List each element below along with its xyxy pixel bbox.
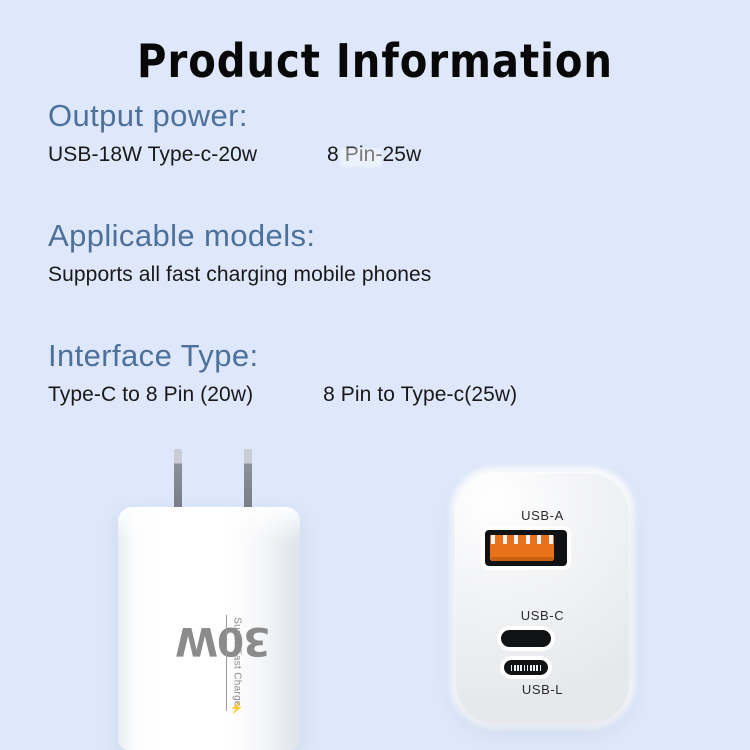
product-information-page: Product Information Output power: USB-18… — [0, 0, 750, 750]
usb-l-pin — [520, 665, 522, 671]
spec-heading-interface-type: Interface Type: — [48, 338, 517, 374]
branding-divider — [226, 615, 227, 711]
spec-block-applicable-models: Applicable models: Supports all fast cha… — [48, 218, 431, 287]
usb-a-slot — [549, 535, 553, 544]
usb-l-pin — [536, 665, 538, 671]
spec-heading-applicable-models: Applicable models: — [48, 218, 431, 254]
usb-l-pin — [514, 665, 516, 671]
charger-left-branding: 30W Super Fast Charge ⚡ — [178, 611, 242, 715]
spec-body-applicable-models: Supports all fast charging mobile phones — [48, 263, 431, 287]
lightning-port-icon — [504, 660, 548, 675]
watermark-patch — [340, 148, 382, 167]
plug-prong-right — [244, 449, 252, 507]
port-label-usb-l: USB-L — [455, 682, 630, 697]
interface-value-8pin-to-typec: 8 Pin to Type-c(25w) — [323, 383, 517, 406]
plug-prong-left — [174, 449, 182, 507]
usb-l-pin — [533, 665, 535, 671]
spec-body-interface-type: Type-C to 8 Pin (20w) 8 Pin to Type-c(25… — [48, 383, 517, 407]
usb-l-pin — [511, 665, 513, 671]
usb-l-pin — [530, 665, 532, 671]
tagline-label: Super Fast Charge — [232, 617, 243, 707]
usb-l-pin — [527, 665, 529, 671]
usb-a-slot — [526, 535, 530, 544]
charger-left-body: 30W Super Fast Charge ⚡ — [118, 507, 300, 750]
output-power-value-usb: USB-18W Type-c-20w — [48, 143, 257, 166]
tagline-wrapper: Super Fast Charge — [228, 613, 246, 711]
interface-value-typec-to-8pin: Type-C to 8 Pin (20w) — [48, 383, 253, 406]
lightning-bolt-icon: ⚡ — [230, 701, 244, 712]
charger-left-highlight — [118, 507, 300, 541]
usb-a-port-icon — [485, 530, 567, 566]
wattage-label: 30W — [176, 621, 270, 660]
charger-left-image: 30W Super Fast Charge ⚡ — [118, 507, 300, 750]
spec-block-interface-type: Interface Type: Type-C to 8 Pin (20w) 8 … — [48, 338, 517, 407]
usb-a-slot — [537, 535, 541, 544]
usb-l-pin — [517, 665, 519, 671]
usb-a-slot — [514, 535, 518, 544]
usb-a-slot — [503, 535, 507, 544]
usb-l-pin — [524, 665, 526, 671]
charger-right-image: USB-A USB-C — [455, 472, 630, 724]
spec-heading-output-power: Output power: — [48, 98, 421, 134]
usb-a-contact-slots — [491, 535, 553, 544]
port-label-usb-c: USB-C — [455, 608, 630, 623]
usb-l-pin — [540, 665, 542, 671]
usb-a-slot — [491, 535, 495, 544]
port-label-usb-a: USB-A — [455, 508, 630, 523]
page-title: Product Information — [11, 34, 739, 88]
usb-c-port-icon — [501, 630, 551, 647]
charger-right-body: USB-A USB-C — [455, 472, 630, 724]
usb-a-lower-notch — [491, 557, 553, 561]
